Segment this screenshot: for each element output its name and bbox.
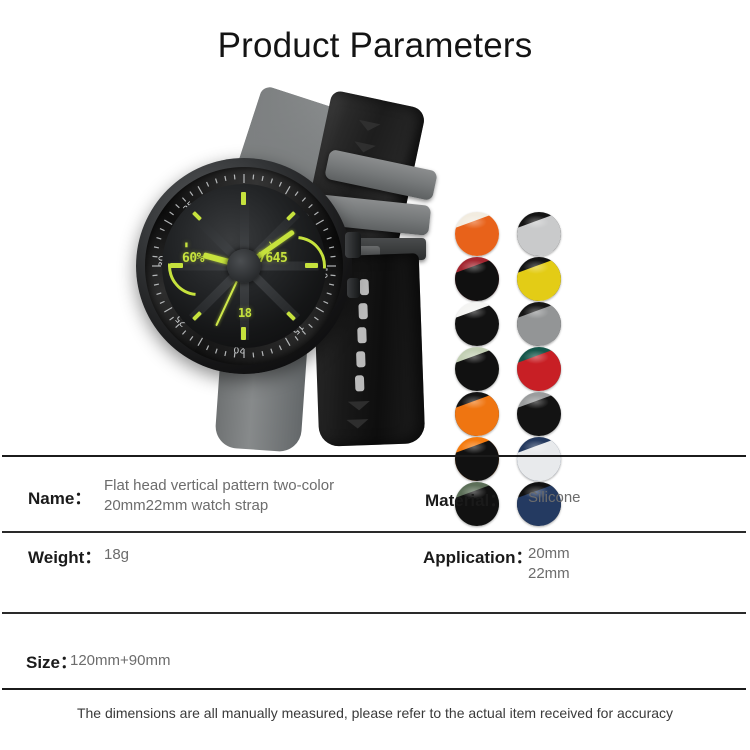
dial-center-cap	[227, 249, 261, 283]
spec-divider-1	[2, 531, 746, 533]
spec-divider-top	[2, 455, 746, 457]
color-swatch[interactable]	[517, 347, 561, 391]
swatch-gloss	[461, 305, 487, 319]
watch-dial: ▮ 60% ❯ 7645 18	[162, 184, 326, 348]
swatch-gloss	[461, 350, 487, 364]
spec-label-name: Name：	[28, 484, 91, 509]
color-swatch[interactable]	[517, 437, 561, 481]
spec-divider-bottom	[2, 688, 746, 690]
battery-icon: ▮	[184, 240, 188, 249]
spec-value-application: 20mm 22mm	[528, 544, 570, 584]
color-swatch[interactable]	[455, 437, 499, 481]
color-swatch[interactable]	[455, 347, 499, 391]
swatch-gloss	[461, 215, 487, 229]
swatch-gloss	[523, 215, 549, 229]
spec-value-weight: 18g	[104, 545, 129, 565]
date-value: 18	[238, 306, 251, 320]
spec-label-weight: Weight：	[28, 543, 101, 568]
swatch-gloss	[523, 395, 549, 409]
product-image: 05 10 15 20 25 30 35	[0, 100, 750, 440]
watch-case: 05 10 15 20 25 30 35	[136, 158, 352, 374]
swatch-gloss	[523, 260, 549, 274]
footer-disclaimer: The dimensions are all manually measured…	[0, 705, 750, 721]
swatch-gloss	[523, 440, 549, 454]
color-swatch[interactable]	[455, 212, 499, 256]
watch-illustration: 05 10 15 20 25 30 35	[120, 100, 450, 440]
swatch-gloss	[461, 440, 487, 454]
watch-crown	[345, 232, 361, 258]
spec-value-size: 120mm+90mm	[70, 651, 170, 671]
color-swatch[interactable]	[455, 392, 499, 436]
spec-value-application-line2: 22mm	[528, 564, 570, 584]
spec-value-name-line1: Flat head vertical pattern two-color	[104, 476, 334, 496]
battery-value: 60%	[182, 251, 204, 266]
spec-label-application: Application：	[423, 543, 533, 568]
spec-value-name: Flat head vertical pattern two-color 20m…	[104, 476, 334, 516]
spec-label-material: Material：	[425, 486, 506, 511]
page-title: Product Parameters	[0, 26, 750, 66]
color-swatch[interactable]	[517, 257, 561, 301]
color-swatch[interactable]	[455, 302, 499, 346]
color-swatch[interactable]	[517, 302, 561, 346]
color-swatch[interactable]	[517, 392, 561, 436]
color-swatch-grid[interactable]	[455, 212, 575, 528]
swatch-gloss	[523, 305, 549, 319]
watch-side-button	[347, 278, 360, 298]
spec-value-name-line2: 20mm22mm watch strap	[104, 496, 334, 516]
spec-value-material: Silicone	[528, 488, 581, 508]
swatch-gloss	[461, 260, 487, 274]
spec-divider-2	[2, 612, 746, 614]
color-swatch[interactable]	[455, 257, 499, 301]
color-swatch[interactable]	[517, 212, 561, 256]
swatch-gloss	[461, 395, 487, 409]
spec-value-application-line1: 20mm	[528, 544, 570, 564]
swatch-gloss	[523, 350, 549, 364]
